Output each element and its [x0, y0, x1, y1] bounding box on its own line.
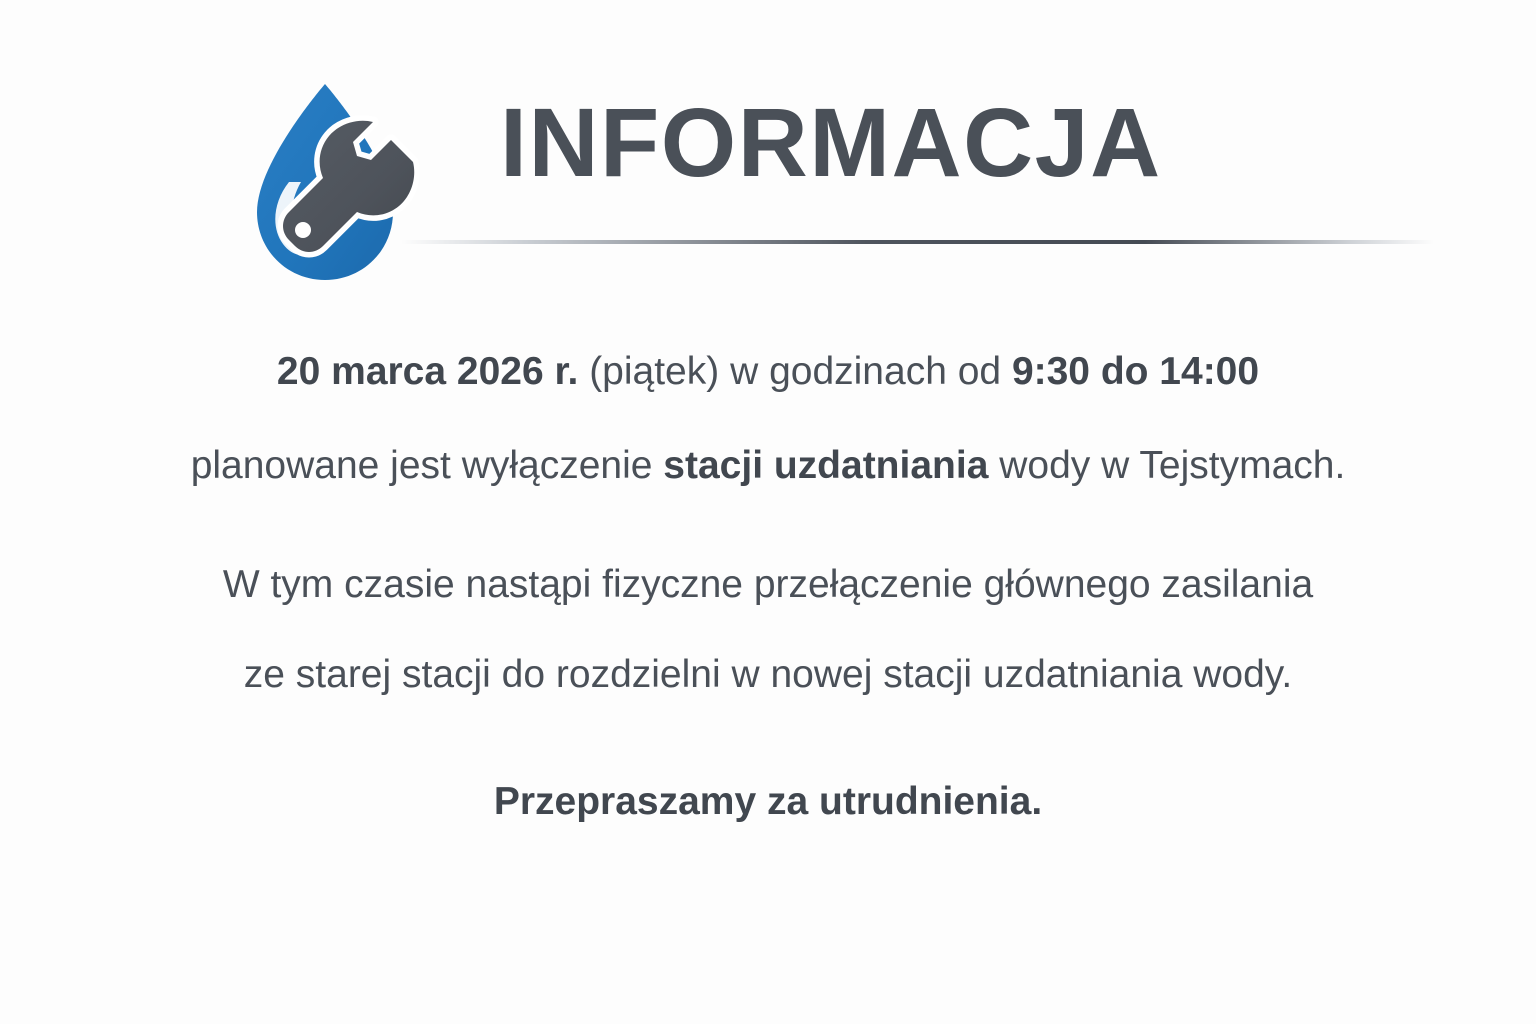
- spacer: [0, 604, 1536, 655]
- information-poster: INFORMACJA 20 marca 2026 r. (piątek) w g…: [0, 0, 1536, 1024]
- paragraph-2-line-2: ze starej stacji do rozdzielni w nowej s…: [0, 655, 1536, 694]
- outage-date: 20 marca 2026 r.: [277, 350, 578, 393]
- outage-prefix: planowane jest wyłączenie: [191, 444, 664, 487]
- closing-apology: Przepraszamy za utrudnienia.: [0, 782, 1536, 821]
- outage-hours: 9:30 do 14:00: [1012, 350, 1259, 393]
- water-drop-wrench-logo: [243, 78, 443, 293]
- spacer: [0, 694, 1536, 782]
- title-divider-rule: [401, 240, 1434, 244]
- spacer: [0, 391, 1536, 446]
- outage-suffix: wody w Tejstymach.: [988, 444, 1345, 487]
- title-block: INFORMACJA: [500, 92, 1500, 282]
- page-title: INFORMACJA: [500, 92, 1500, 195]
- outage-date-middle: (piątek) w godzinach od: [578, 350, 1012, 393]
- paragraph-2-line-1: W tym czasie nastąpi fizyczne przełączen…: [0, 565, 1536, 604]
- spacer: [0, 485, 1536, 565]
- paragraph-1-line-1: 20 marca 2026 r. (piątek) w godzinach od…: [0, 352, 1536, 391]
- outage-facility: stacji uzdatniania: [663, 444, 988, 487]
- paragraph-1-line-2: planowane jest wyłączenie stacji uzdatni…: [0, 446, 1536, 485]
- poster-body: 20 marca 2026 r. (piątek) w godzinach od…: [0, 352, 1536, 821]
- poster-header: INFORMACJA: [0, 78, 1536, 298]
